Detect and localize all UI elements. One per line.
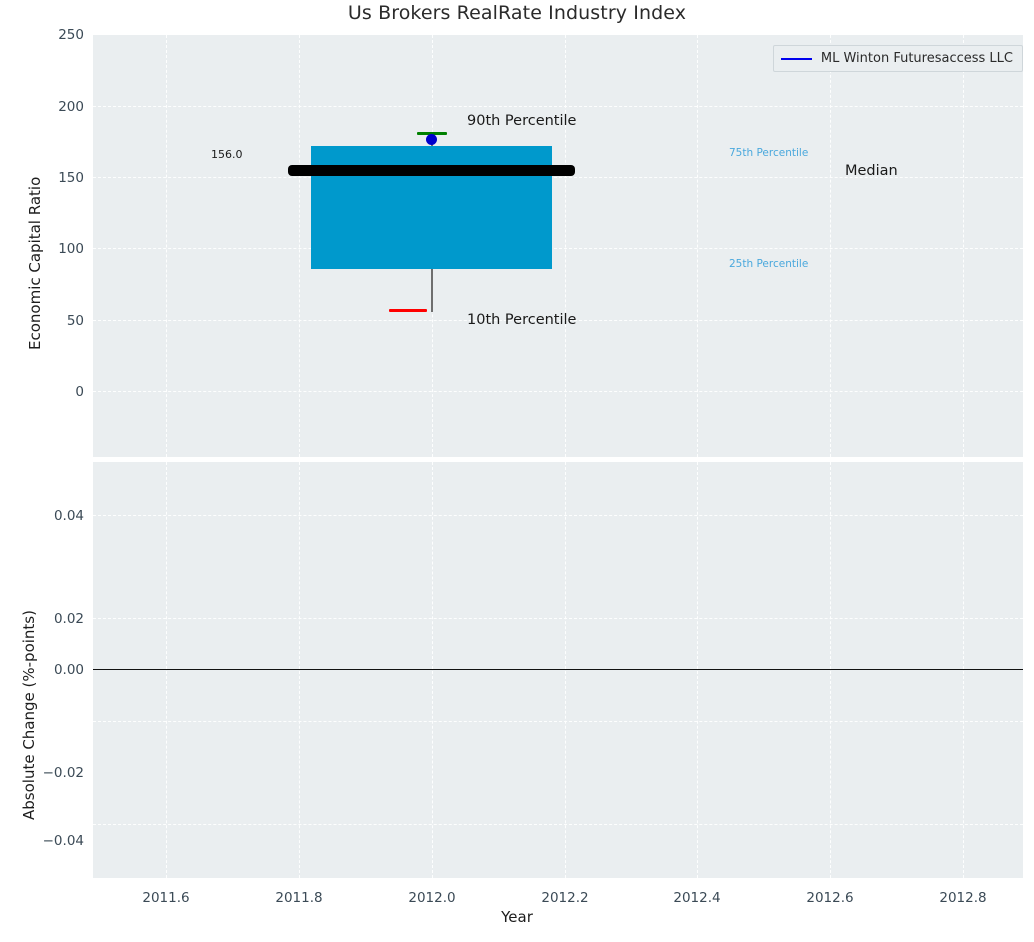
- ytick-bottom-004: 0.04: [4, 508, 84, 524]
- gridline-v-b-2011-8: [299, 462, 300, 878]
- gridline-v-2011-8: [299, 35, 300, 457]
- gridline-h-100: [93, 248, 1023, 249]
- top-plot-panel: 90th Percentile 10th Percentile Median 7…: [93, 35, 1023, 457]
- gridline-v-2012-4: [697, 35, 698, 457]
- ylabel-bottom: Absolute Change (%-points): [20, 610, 38, 820]
- zero-reference-line: [93, 669, 1023, 670]
- xtick-2012-0: 2012.0: [387, 890, 477, 906]
- gridline-v-b-2012-6: [830, 462, 831, 878]
- gridline-h-004: [93, 515, 1023, 516]
- gridline-h-000: [93, 721, 1023, 722]
- gridline-h-0: [93, 391, 1023, 392]
- ytick-bottom-neg004: −0.04: [4, 833, 84, 849]
- gridline-h-002: [93, 618, 1023, 619]
- annotation-10th-percentile: 10th Percentile: [467, 312, 576, 328]
- ytick-top-200: 200: [4, 99, 84, 115]
- xtick-2012-8: 2012.8: [918, 890, 1008, 906]
- ytick-top-100: 100: [4, 241, 84, 257]
- ytick-bottom-neg002: −0.02: [4, 765, 84, 781]
- xtick-2011-8: 2011.8: [254, 890, 344, 906]
- annotation-median: Median: [845, 163, 898, 179]
- gridline-h-200: [93, 106, 1023, 107]
- legend-entry-label: ML Winton Futuresaccess LLC: [821, 51, 1013, 66]
- xtick-2011-6: 2011.6: [121, 890, 211, 906]
- bottom-plot-panel: [93, 462, 1023, 878]
- annotation-75th-percentile: 75th Percentile: [729, 147, 808, 159]
- p10-cap: [389, 309, 427, 312]
- gridline-v-2011-6: [166, 35, 167, 457]
- data-label-median-value: 156.0: [211, 148, 243, 161]
- ytick-top-0: 0: [4, 384, 84, 400]
- chart-legend[interactable]: ML Winton Futuresaccess LLC: [773, 45, 1023, 72]
- ylabel-top: Economic Capital Ratio: [26, 177, 44, 350]
- annotation-90th-percentile: 90th Percentile: [467, 113, 576, 129]
- gridline-v-b-2011-6: [166, 462, 167, 878]
- gridline-v-b-2012-0: [432, 462, 433, 878]
- xtick-2012-6: 2012.6: [785, 890, 875, 906]
- xlabel: Year: [0, 908, 1034, 926]
- gridline-v-b-2012-8: [963, 462, 964, 878]
- gridline-v-b-2012-4: [697, 462, 698, 878]
- gridline-v-b-2012-2: [565, 462, 566, 878]
- gridline-h-neg002: [93, 824, 1023, 825]
- legend-line-icon: [781, 58, 812, 60]
- ytick-top-150: 150: [4, 170, 84, 186]
- gridline-v-2012-2: [565, 35, 566, 457]
- median-line: [288, 165, 575, 176]
- gridline-v-2012-8: [963, 35, 964, 457]
- annotation-25th-percentile: 25th Percentile: [729, 258, 808, 270]
- ytick-top-50: 50: [4, 313, 84, 329]
- xtick-2012-2: 2012.2: [520, 890, 610, 906]
- ytick-top-250: 250: [4, 27, 84, 43]
- ytick-bottom-000: 0.00: [4, 662, 84, 678]
- xtick-2012-4: 2012.4: [652, 890, 742, 906]
- chart-canvas: Us Brokers RealRate Industry Index 90th …: [0, 0, 1034, 942]
- ytick-bottom-002: 0.02: [4, 611, 84, 627]
- company-marker-dot: [426, 134, 437, 145]
- gridline-v-2012-6: [830, 35, 831, 457]
- page-title: Us Brokers RealRate Industry Index: [0, 2, 1034, 24]
